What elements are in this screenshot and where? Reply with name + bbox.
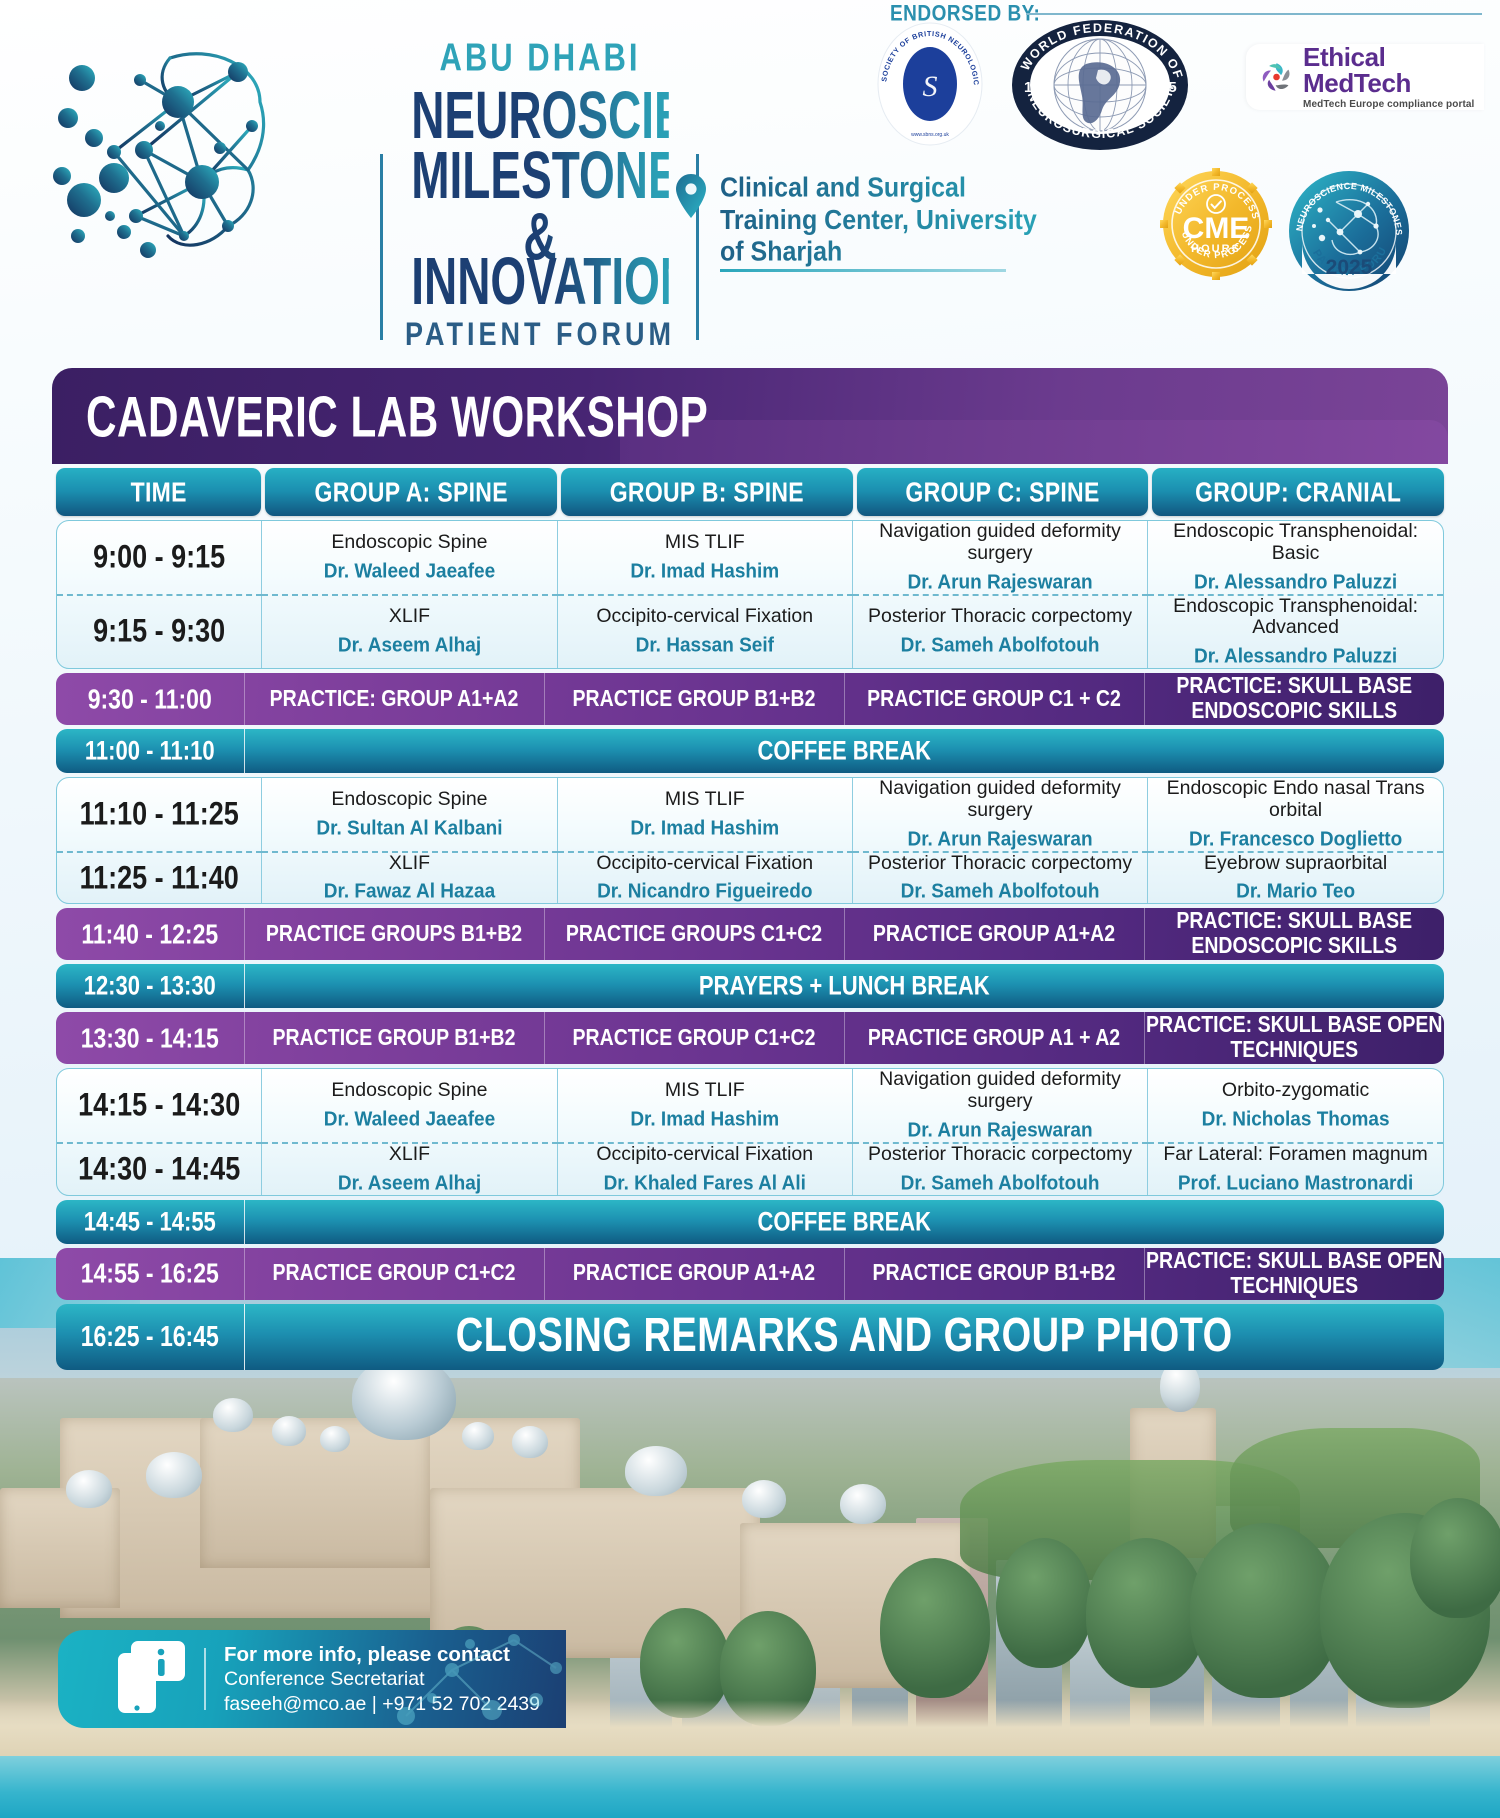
session-doctor: Dr. Nicholas Thomas xyxy=(1148,1110,1443,1131)
agenda-title: CADAVERIC LAB WORKSHOP xyxy=(86,386,708,451)
practice-row: 9:30 - 11:00PRACTICE: GROUP A1+A2PRACTIC… xyxy=(56,673,1444,725)
break-time: 12:30 - 13:30 xyxy=(56,964,244,1008)
session-cell: XLIFDr. Aseem Alhaj xyxy=(262,1143,557,1195)
break-time: 11:00 - 11:10 xyxy=(56,729,244,773)
break-row: 14:45 - 14:55COFFEE BREAK xyxy=(56,1200,1444,1244)
session-block: 9:00 - 9:15Endoscopic SpineDr. Waleed Ja… xyxy=(56,520,1444,669)
session-topic: Posterior Thoracic corpectomy xyxy=(853,853,1147,875)
contact-divider xyxy=(204,1648,206,1710)
session-doctor: Dr. Hassan Seif xyxy=(558,636,852,657)
contact-footer[interactable]: For more info, please contact Conference… xyxy=(58,1630,566,1728)
practice-cell: PRACTICE GROUPS C1+C2 xyxy=(544,908,844,960)
session-topic: XLIF xyxy=(262,606,556,628)
closing-block: 16:25 - 16:45CLOSING REMARKS AND GROUP P… xyxy=(56,1304,1444,1370)
practice-time: 11:40 - 12:25 xyxy=(56,908,244,960)
break-label: COFFEE BREAK xyxy=(244,729,1444,773)
venue-underline xyxy=(720,269,1006,272)
session-row: 11:10 - 11:25Endoscopic SpineDr. Sultan … xyxy=(56,777,1444,904)
session-topic: Endoscopic Endo nasal Trans orbital xyxy=(1148,778,1443,822)
closing-label: CLOSING REMARKS AND GROUP PHOTO xyxy=(244,1304,1444,1370)
session-subrow: 9:00 - 9:15Endoscopic SpineDr. Waleed Ja… xyxy=(57,521,1443,595)
session-row: 9:00 - 9:15Endoscopic SpineDr. Waleed Ja… xyxy=(56,520,1444,669)
practice-time: 9:30 - 11:00 xyxy=(56,673,244,725)
session-doctor: Dr. Arun Rajeswaran xyxy=(853,1121,1147,1142)
break-row: 12:30 - 13:30PRAYERS + LUNCH BREAK xyxy=(56,964,1444,1008)
session-topic: Endoscopic Spine xyxy=(262,789,556,811)
svg-text:www.sbns.org.uk: www.sbns.org.uk xyxy=(911,132,949,138)
agenda-section: CADAVERIC LAB WORKSHOP TIMEGROUP A: SPIN… xyxy=(52,368,1448,1374)
practice-cell: PRACTICE: SKULL BASE ENDOSCOPIC SKILLS xyxy=(1144,908,1444,960)
session-doctor: Dr. Sameh Abolfotouh xyxy=(853,636,1147,657)
contact-separator: | xyxy=(372,1693,377,1715)
session-topic: Eyebrow supraorbital xyxy=(1148,853,1443,875)
svg-text:S: S xyxy=(923,70,938,103)
practice-cell: PRACTICE GROUP A1+A2 xyxy=(844,908,1144,960)
session-cell: Endoscopic SpineDr. Waleed Jaeafee xyxy=(262,521,557,595)
session-doctor: Dr. Imad Hashim xyxy=(558,819,852,840)
ethical-medtech-pinwheel-icon xyxy=(1260,59,1293,95)
session-doctor: Prof. Luciano Mastronardi xyxy=(1148,1174,1443,1195)
session-topic: Endoscopic Spine xyxy=(262,1080,556,1102)
ethical-medtech-name: Ethical MedTech xyxy=(1303,44,1484,96)
session-cell: XLIFDr. Fawaz Al Hazaa xyxy=(262,852,557,904)
session-topic: Navigation guided deformity surgery xyxy=(853,521,1147,565)
title-rule-left xyxy=(380,154,383,340)
session-subrow: 11:10 - 11:25Endoscopic SpineDr. Sultan … xyxy=(57,778,1443,852)
practice-cell: PRACTICE GROUP C1+C2 xyxy=(244,1248,544,1300)
session-doctor: Dr. Aseem Alhaj xyxy=(262,1174,556,1195)
session-doctor: Dr. Imad Hashim xyxy=(558,562,852,583)
ethical-medtech-badge: Ethical MedTech MedTech Europe complianc… xyxy=(1246,44,1484,110)
session-cell: Eyebrow supraorbitalDr. Mario Teo xyxy=(1148,852,1443,904)
session-cell: Endoscopic SpineDr. Waleed Jaeafee xyxy=(262,1069,557,1143)
session-time: 14:15 - 14:30 xyxy=(57,1069,262,1143)
contact-info-phone-icon xyxy=(116,1639,186,1720)
break-block: 11:00 - 11:10COFFEE BREAK xyxy=(56,729,1444,773)
brain-network-logo-icon xyxy=(52,30,342,260)
session-doctor: Dr. Waleed Jaeafee xyxy=(262,1110,556,1131)
session-time: 11:25 - 11:40 xyxy=(57,852,262,904)
agenda-header-row: TIMEGROUP A: SPINEGROUP B: SPINEGROUP C:… xyxy=(56,468,1444,516)
session-cell: MIS TLIFDr. Imad Hashim xyxy=(557,1069,852,1143)
break-label: COFFEE BREAK xyxy=(244,1200,1444,1244)
event-city: ABU DHABI xyxy=(400,38,680,77)
practice-cell: PRACTICE GROUP A1+A2 xyxy=(544,1248,844,1300)
session-topic: Endoscopic Transphenoidal: Advanced xyxy=(1148,596,1443,640)
session-topic: Occipito-cervical Fixation xyxy=(558,853,852,875)
break-row: 11:00 - 11:10COFFEE BREAK xyxy=(56,729,1444,773)
session-doctor: Dr. Waleed Jaeafee xyxy=(262,562,556,583)
practice-row: 13:30 - 14:15PRACTICE GROUP B1+B2PRACTIC… xyxy=(56,1012,1444,1064)
session-cell: XLIFDr. Aseem Alhaj xyxy=(262,595,557,669)
session-topic: Far Lateral: Foramen magnum xyxy=(1148,1144,1443,1166)
venue-block: Clinical and Surgical Training Center, U… xyxy=(720,172,1040,272)
session-block: 11:10 - 11:25Endoscopic SpineDr. Sultan … xyxy=(56,777,1444,904)
session-time: 9:00 - 9:15 xyxy=(57,521,262,595)
session-topic: Endoscopic Spine xyxy=(262,532,556,554)
cme-hours-badge-icon: UNDER PROCESS UNDER PROCESS CME HOURS xyxy=(1160,168,1272,280)
session-cell: MIS TLIFDr. Imad Hashim xyxy=(557,521,852,595)
session-topic: MIS TLIF xyxy=(558,789,852,811)
location-pin-icon xyxy=(676,174,706,218)
session-doctor: Dr. Arun Rajeswaran xyxy=(853,830,1147,851)
endorsed-by-rule xyxy=(1026,13,1482,15)
session-cell: Navigation guided deformity surgeryDr. A… xyxy=(852,521,1147,595)
session-topic: Posterior Thoracic corpectomy xyxy=(853,1144,1147,1166)
practice-cell: PRACTICE GROUP A1 + A2 xyxy=(844,1012,1144,1064)
break-block: 12:30 - 13:30PRAYERS + LUNCH BREAK xyxy=(56,964,1444,1008)
session-cell: Navigation guided deformity surgeryDr. A… xyxy=(852,778,1147,852)
session-doctor: Dr. Sameh Abolfotouh xyxy=(853,1174,1147,1195)
session-cell: Far Lateral: Foramen magnumProf. Luciano… xyxy=(1148,1143,1443,1195)
poster-root: ABU DHABI NEUROSCIENCE MILESTONES & INNO… xyxy=(0,0,1500,1818)
practice-time: 14:55 - 16:25 xyxy=(56,1248,244,1300)
practice-cell: PRACTICE GROUP B1+B2 xyxy=(244,1012,544,1064)
cme-sub-text: HOURS xyxy=(1191,243,1241,255)
session-topic: Occipito-cervical Fixation xyxy=(558,1144,852,1166)
session-cell: Occipito-cervical FixationDr. Nicandro F… xyxy=(557,852,852,904)
patient-forum-2025-seal-icon: NEUROSCIENCE MILESTONES & INNOVATION PA xyxy=(1288,170,1410,292)
contact-network-decoration-icon xyxy=(396,1630,566,1728)
ethical-medtech-tagline: MedTech Europe compliance portal xyxy=(1303,100,1484,110)
session-cell: Posterior Thoracic corpectomyDr. Sameh A… xyxy=(852,595,1147,669)
session-doctor: Dr. Nicandro Figueiredo xyxy=(558,882,852,903)
column-header-0: TIME xyxy=(56,468,261,516)
break-label: PRAYERS + LUNCH BREAK xyxy=(244,964,1444,1008)
cme-main-text: CME xyxy=(1183,212,1250,245)
practice-block: 11:40 - 12:25PRACTICE GROUPS B1+B2PRACTI… xyxy=(56,908,1444,960)
column-header-3: GROUP C: SPINE xyxy=(857,468,1149,516)
session-topic: Navigation guided deformity surgery xyxy=(853,1069,1147,1113)
session-doctor: Dr. Alessandro Paluzzi xyxy=(1148,647,1443,668)
column-header-2: GROUP B: SPINE xyxy=(561,468,853,516)
closing-row: 16:25 - 16:45CLOSING REMARKS AND GROUP P… xyxy=(56,1304,1444,1370)
session-doctor: Dr. Fawaz Al Hazaa xyxy=(262,882,556,903)
session-topic: Posterior Thoracic corpectomy xyxy=(853,606,1147,628)
session-doctor: Dr. Alessandro Paluzzi xyxy=(1148,573,1443,594)
practice-cell: PRACTICE GROUP C1 + C2 xyxy=(844,673,1144,725)
session-time: 9:15 - 9:30 xyxy=(57,595,262,669)
session-doctor: Dr. Sultan Al Kalbani xyxy=(262,819,556,840)
break-block: 14:45 - 14:55COFFEE BREAK xyxy=(56,1200,1444,1244)
session-cell: Endoscopic Transphenoidal: BasicDr. Ales… xyxy=(1148,521,1443,595)
practice-block: 13:30 - 14:15PRACTICE GROUP B1+B2PRACTIC… xyxy=(56,1012,1444,1064)
session-subrow: 14:15 - 14:30Endoscopic SpineDr. Waleed … xyxy=(57,1069,1443,1143)
session-cell: Orbito-zygomaticDr. Nicholas Thomas xyxy=(1148,1069,1443,1143)
closing-time: 16:25 - 16:45 xyxy=(56,1304,244,1370)
session-cell: Endoscopic Transphenoidal: AdvancedDr. A… xyxy=(1148,595,1443,669)
session-doctor: Dr. Arun Rajeswaran xyxy=(853,573,1147,594)
session-doctor: Dr. Mario Teo xyxy=(1148,882,1443,903)
practice-cell: PRACTICE: SKULL BASE ENDOSCOPIC SKILLS xyxy=(1144,673,1444,725)
practice-cell: PRACTICE GROUP B1+B2 xyxy=(844,1248,1144,1300)
session-subrow: 9:15 - 9:30XLIFDr. Aseem AlhajOccipito-c… xyxy=(57,595,1443,669)
break-time: 14:45 - 14:55 xyxy=(56,1200,244,1244)
session-topic: MIS TLIF xyxy=(558,1080,852,1102)
practice-cell: PRACTICE: SKULL BASE OPEN TECHNIQUES xyxy=(1144,1248,1444,1300)
venue-name: Clinical and Surgical Training Center, U… xyxy=(720,172,1040,268)
svg-text:19: 19 xyxy=(1024,79,1041,96)
session-subrow: 14:30 - 14:45XLIFDr. Aseem AlhajOccipito… xyxy=(57,1143,1443,1195)
wfns-endorsement-badge-icon: WORLD FEDERATION OF NEUROSURGICAL SOCIET… xyxy=(1010,18,1190,152)
column-header-1: GROUP A: SPINE xyxy=(265,468,557,516)
session-subrow: 11:25 - 11:40XLIFDr. Fawaz Al HazaaOccip… xyxy=(57,852,1443,904)
session-topic: XLIF xyxy=(262,853,556,875)
practice-cell: PRACTICE GROUP B1+B2 xyxy=(544,673,844,725)
session-block: 14:15 - 14:30Endoscopic SpineDr. Waleed … xyxy=(56,1068,1444,1195)
session-topic: Occipito-cervical Fixation xyxy=(558,606,852,628)
practice-cell: PRACTICE GROUPS B1+B2 xyxy=(244,908,544,960)
seal-year-text: 2025 xyxy=(1326,256,1373,279)
session-topic: XLIF xyxy=(262,1144,556,1166)
session-topic: Endoscopic Transphenoidal: Basic xyxy=(1148,521,1443,565)
event-subtitle: PATIENT FORUM xyxy=(400,316,680,353)
contact-email[interactable]: faseeh@mco.ae xyxy=(224,1693,366,1715)
session-doctor: Dr. Imad Hashim xyxy=(558,1110,852,1131)
session-doctor: Dr. Khaled Fares Al Ali xyxy=(558,1174,852,1195)
practice-block: 9:30 - 11:00PRACTICE: GROUP A1+A2PRACTIC… xyxy=(56,673,1444,725)
session-cell: Posterior Thoracic corpectomyDr. Sameh A… xyxy=(852,852,1147,904)
session-topic: Orbito-zygomatic xyxy=(1148,1080,1443,1102)
column-header-4: GROUP: CRANIAL xyxy=(1152,468,1444,516)
session-row: 14:15 - 14:30Endoscopic SpineDr. Waleed … xyxy=(56,1068,1444,1195)
session-cell: Occipito-cervical FixationDr. Khaled Far… xyxy=(557,1143,852,1195)
practice-cell: PRACTICE: SKULL BASE OPEN TECHNIQUES xyxy=(1144,1012,1444,1064)
session-time: 11:10 - 11:25 xyxy=(57,778,262,852)
session-doctor: Dr. Aseem Alhaj xyxy=(262,636,556,657)
session-cell: Navigation guided deformity surgeryDr. A… xyxy=(852,1069,1147,1143)
agenda-banner: CADAVERIC LAB WORKSHOP xyxy=(52,368,1448,464)
practice-time: 13:30 - 14:15 xyxy=(56,1012,244,1064)
session-cell: Occipito-cervical FixationDr. Hassan Sei… xyxy=(557,595,852,669)
session-cell: Endoscopic Endo nasal Trans orbitalDr. F… xyxy=(1148,778,1443,852)
practice-row: 14:55 - 16:25PRACTICE GROUP C1+C2PRACTIC… xyxy=(56,1248,1444,1300)
session-doctor: Dr. Francesco Doglietto xyxy=(1148,830,1443,851)
event-title-line1: NEUROSCIENCE xyxy=(411,85,669,146)
agenda-table: TIMEGROUP A: SPINEGROUP B: SPINEGROUP C:… xyxy=(52,464,1448,1374)
session-topic: MIS TLIF xyxy=(558,532,852,554)
svg-text:55: 55 xyxy=(1160,79,1177,96)
event-title-line3: INNOVATION xyxy=(411,251,669,312)
session-topic: Navigation guided deformity surgery xyxy=(853,778,1147,822)
sbns-endorsement-badge-icon: S SOCIETY OF BRITISH NEUROLOGICAL SURGEO… xyxy=(876,22,984,147)
practice-row: 11:40 - 12:25PRACTICE GROUPS B1+B2PRACTI… xyxy=(56,908,1444,960)
session-cell: Posterior Thoracic corpectomyDr. Sameh A… xyxy=(852,1143,1147,1195)
session-time: 14:30 - 14:45 xyxy=(57,1143,262,1195)
poster-header: ABU DHABI NEUROSCIENCE MILESTONES & INNO… xyxy=(0,0,1500,320)
practice-cell: PRACTICE: GROUP A1+A2 xyxy=(244,673,544,725)
practice-block: 14:55 - 16:25PRACTICE GROUP C1+C2PRACTIC… xyxy=(56,1248,1444,1300)
session-doctor: Dr. Sameh Abolfotouh xyxy=(853,882,1147,903)
session-cell: Endoscopic SpineDr. Sultan Al Kalbani xyxy=(262,778,557,852)
session-cell: MIS TLIFDr. Imad Hashim xyxy=(557,778,852,852)
practice-cell: PRACTICE GROUP C1+C2 xyxy=(544,1012,844,1064)
